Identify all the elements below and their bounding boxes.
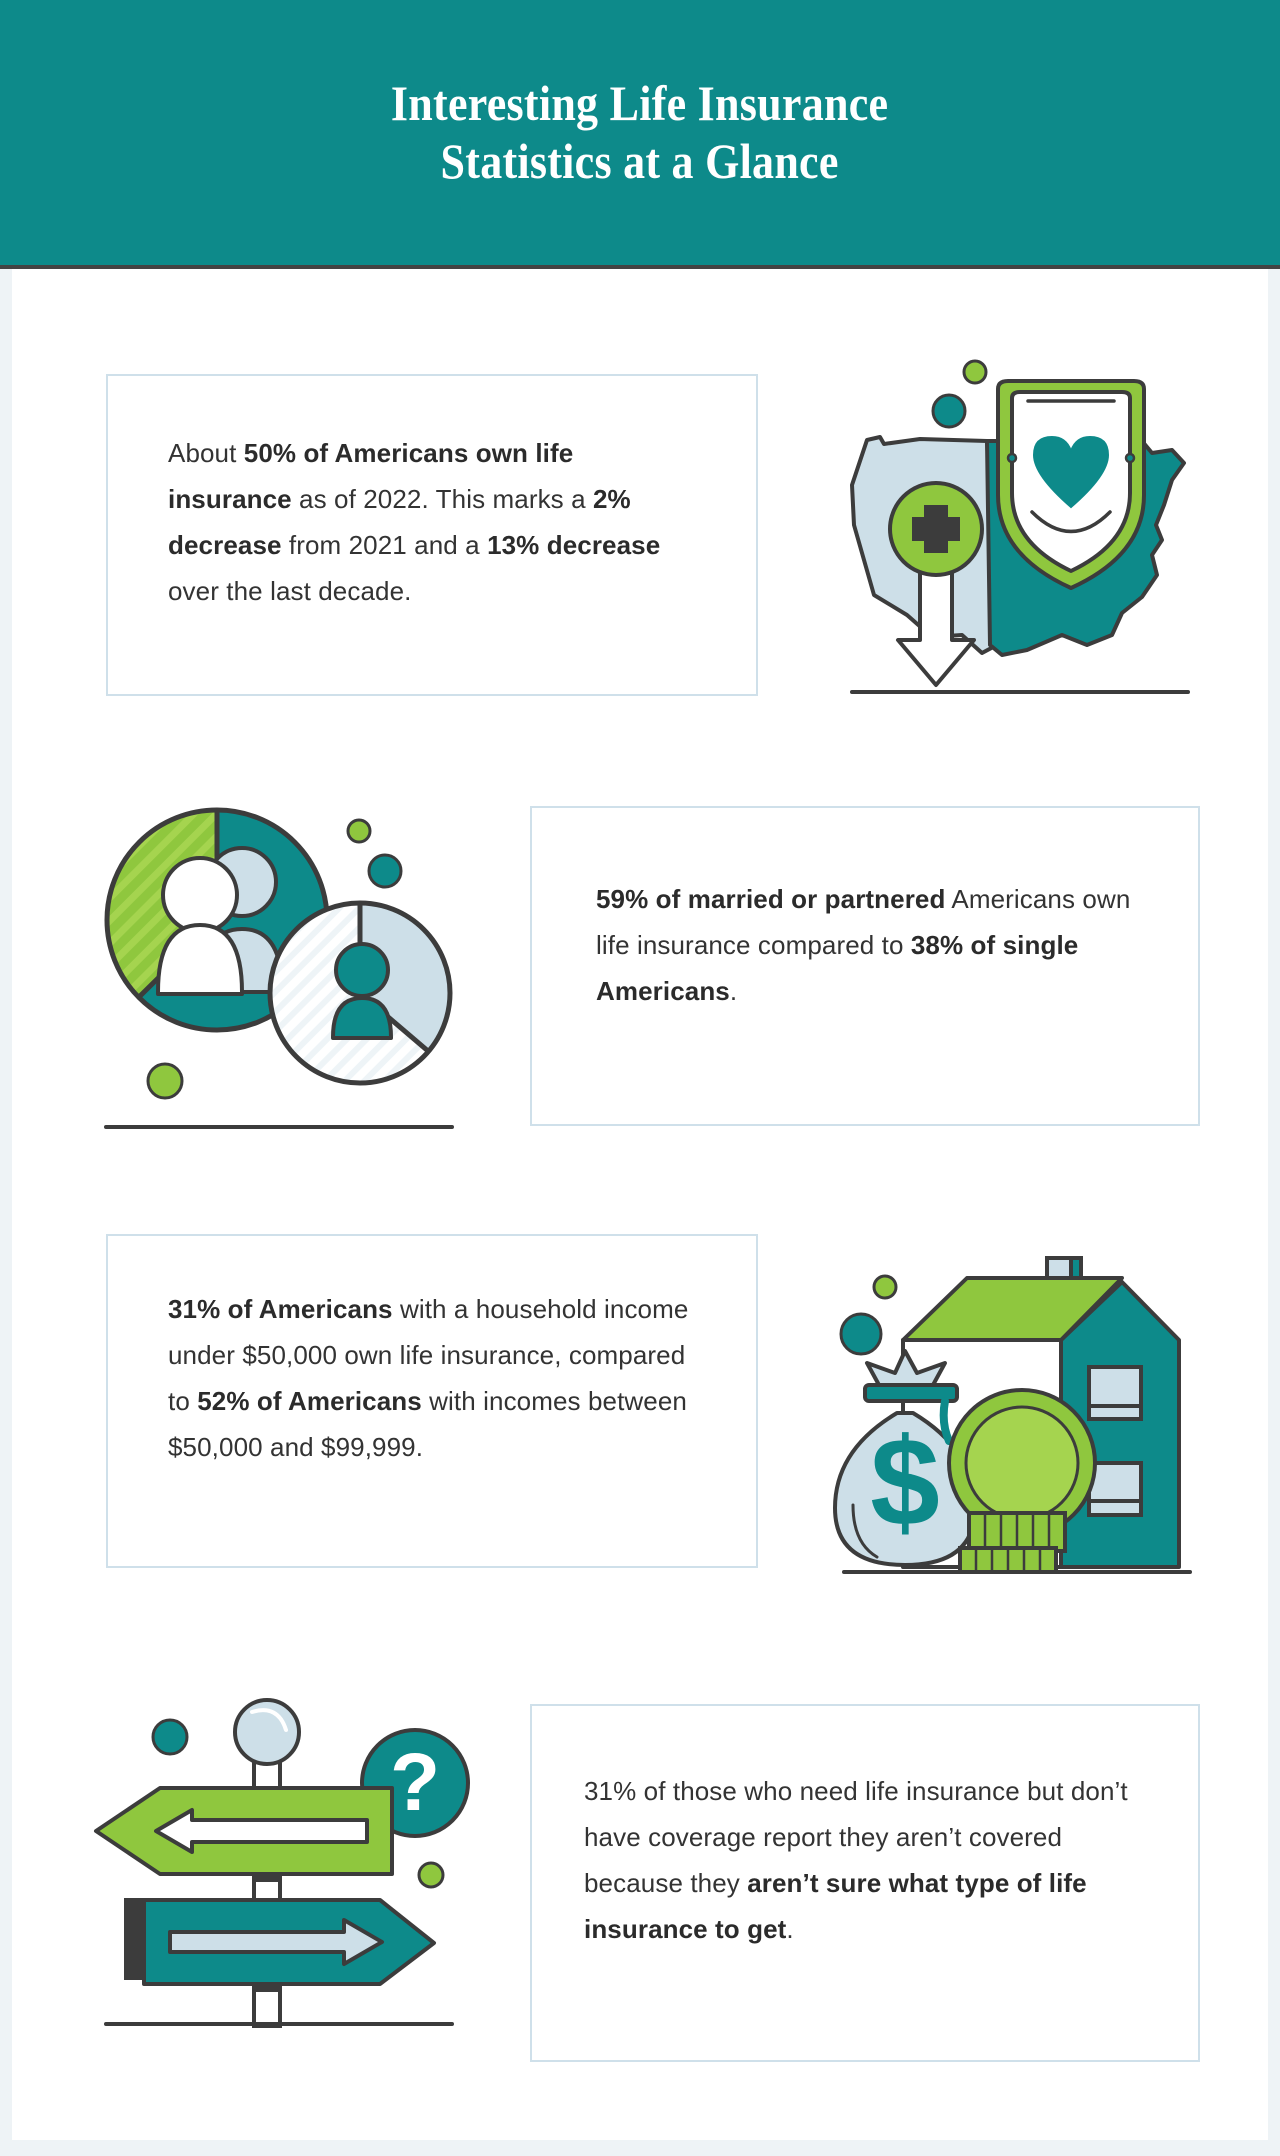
- question-mark-icon: ?: [390, 1737, 440, 1828]
- coin-large-inner-icon: [966, 1407, 1078, 1519]
- signpost-post-base-2-icon: [254, 1990, 280, 2026]
- signpost-question-illustration: ?: [82, 1690, 482, 2050]
- decor-dot-green-icon: [348, 820, 370, 842]
- statistic-textbox-4: 31% of those who need life insurance but…: [530, 1704, 1200, 2062]
- ground-line-1: [850, 690, 1190, 694]
- person-front-head-icon: [163, 858, 237, 932]
- dollar-sign-icon: $: [870, 1413, 940, 1552]
- decor-dot-teal-icon: [369, 855, 401, 887]
- person-single-body-icon: [333, 998, 391, 1038]
- statistic-text-4: 31% of those who need life insurance but…: [584, 1768, 1136, 1952]
- decor-dot-teal-icon: [933, 395, 965, 427]
- stat1-part-0: About: [168, 438, 244, 468]
- stat2-part-0: 59% of married or partnered: [596, 884, 945, 914]
- page-title-line-1: Interesting Life Insurance: [391, 75, 888, 131]
- us-map-shield-illustration: [812, 345, 1212, 705]
- shield-rivet-right-icon: [1126, 454, 1134, 462]
- stat4-part-2: .: [786, 1914, 793, 1944]
- shield-rivet-left-icon: [1008, 454, 1016, 462]
- stat3-part-0: 31% of Americans: [168, 1294, 393, 1324]
- header-divider: [0, 265, 1280, 269]
- window-upper-icon: [1089, 1367, 1141, 1419]
- infographic-page: Interesting Life Insurance Statistics at…: [0, 0, 1280, 2156]
- decor-dot-teal-icon: [841, 1314, 881, 1354]
- house-money-illustration: $: [817, 1245, 1217, 1575]
- stat1-part-5: 13% decrease: [487, 530, 660, 560]
- page-title-line-2: Statistics at a Glance: [441, 133, 839, 189]
- statistic-textbox-3: 31% of Americans with a household income…: [106, 1234, 758, 1568]
- page-title: Interesting Life Insurance Statistics at…: [356, 75, 924, 190]
- pie-charts-people-illustration: [82, 785, 482, 1125]
- content-card: Interesting Life Insurance Statistics at…: [12, 0, 1268, 2140]
- stat2-part-3: .: [730, 976, 737, 1006]
- header-banner: Interesting Life Insurance Statistics at…: [0, 0, 1280, 265]
- statistic-text-3: 31% of Americans with a household income…: [168, 1286, 698, 1470]
- statistic-textbox-1: About 50% of Americans own life insuranc…: [106, 374, 758, 696]
- person-single-head-icon: [336, 944, 388, 996]
- decor-dot-green-icon: [419, 1863, 443, 1887]
- stat1-part-6: over the last decade.: [168, 576, 411, 606]
- decor-dot-green-2-icon: [148, 1064, 182, 1098]
- ground-line-4: [104, 2022, 454, 2026]
- decor-dot-green-icon: [964, 361, 986, 383]
- statistic-text-2: 59% of married or partnered Americans ow…: [596, 876, 1136, 1014]
- window-lower-icon: [1089, 1463, 1141, 1515]
- stat3-part-2: 52% of Americans: [197, 1386, 422, 1416]
- ground-line-3: [842, 1570, 1192, 1574]
- decor-dot-green-icon: [874, 1276, 896, 1298]
- ground-line-2: [104, 1125, 454, 1129]
- stat1-part-2: as of 2022. This marks a: [292, 484, 593, 514]
- statistic-text-1: About 50% of Americans own life insuranc…: [168, 430, 696, 614]
- stat1-part-4: from 2021 and a: [282, 530, 488, 560]
- decor-dot-teal-icon: [153, 1720, 187, 1754]
- statistic-textbox-2: 59% of married or partnered Americans ow…: [530, 806, 1200, 1126]
